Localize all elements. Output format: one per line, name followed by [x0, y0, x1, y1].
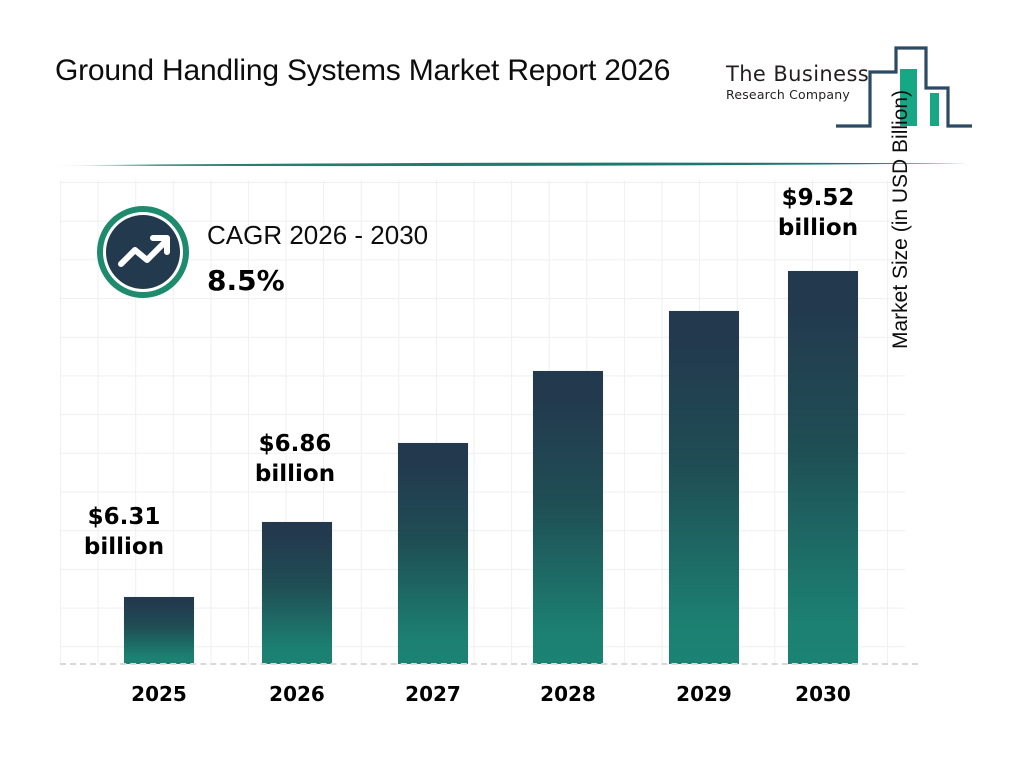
- cagr-value: 8.5%: [207, 264, 285, 297]
- x-axis-label-2029: 2029: [644, 682, 764, 706]
- value-label-2025-unit: billion: [59, 533, 189, 563]
- header: Ground Handling Systems Market Report 20…: [0, 0, 1024, 160]
- bar-2026: [262, 522, 332, 664]
- value-label-2025: $6.31 billion: [59, 503, 189, 563]
- x-axis-label-2030: 2030: [763, 682, 883, 706]
- value-label-2030-amount: $9.52: [753, 184, 883, 214]
- value-label-2025-amount: $6.31: [59, 503, 189, 533]
- header-divider: [48, 156, 968, 164]
- x-axis-label-2027: 2027: [373, 682, 493, 706]
- bar-2027: [398, 443, 468, 664]
- value-label-2026-amount: $6.86: [230, 430, 360, 460]
- bar-2029: [669, 311, 739, 664]
- bar-2030: [788, 271, 858, 664]
- value-label-2026-unit: billion: [230, 460, 360, 490]
- page-title: Ground Handling Systems Market Report 20…: [55, 50, 715, 93]
- bar-2025: [124, 597, 194, 664]
- bar-2028: [533, 371, 603, 664]
- trending-up-icon: [97, 206, 189, 303]
- x-axis-label-2028: 2028: [508, 682, 628, 706]
- x-axis-label-2025: 2025: [99, 682, 219, 706]
- x-axis-label-2026: 2026: [237, 682, 357, 706]
- cagr-block: CAGR 2026 - 2030 8.5%: [97, 206, 517, 306]
- value-label-2030-unit: billion: [753, 214, 883, 244]
- x-axis-baseline: [60, 663, 918, 665]
- value-label-2030: $9.52 billion: [753, 184, 883, 244]
- y-axis-title: Market Size (in USD Billion): [889, 0, 913, 349]
- company-logo: The Business Research Company: [726, 36, 976, 132]
- value-label-2026: $6.86 billion: [230, 430, 360, 490]
- cagr-period-label: CAGR 2026 - 2030: [207, 220, 428, 251]
